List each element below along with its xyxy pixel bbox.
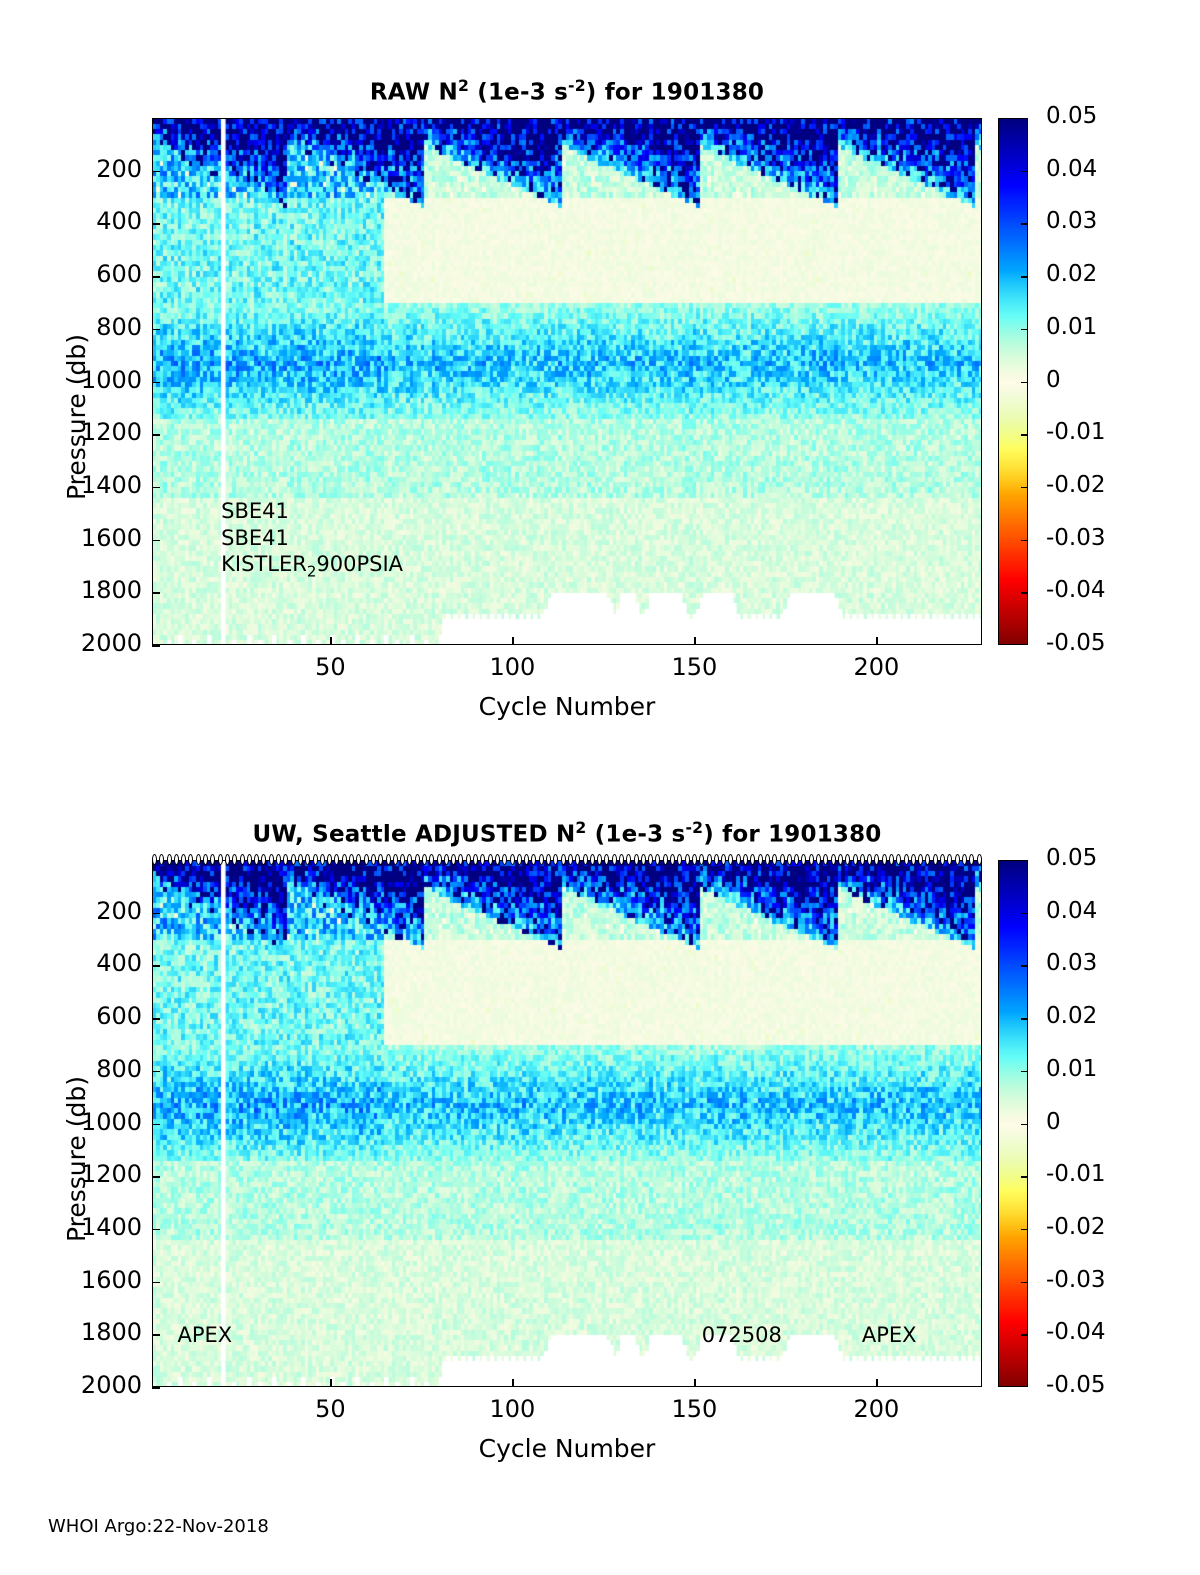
cycle-marker-icon bbox=[334, 854, 339, 865]
colorbar-tick-label: -0.04 bbox=[1046, 577, 1106, 603]
cycle-marker-icon bbox=[758, 854, 763, 865]
colorbar-tick-mark bbox=[1021, 276, 1028, 278]
colorbar-tick-mark bbox=[1021, 487, 1028, 489]
cycle-marker-icon bbox=[568, 854, 573, 865]
ytick-mark bbox=[152, 329, 160, 331]
ytick-mark bbox=[152, 1176, 160, 1178]
colorbar-tick-label: 0.04 bbox=[1046, 898, 1097, 924]
cycle-marker-icon bbox=[261, 854, 266, 865]
ytick-mark bbox=[152, 1229, 160, 1231]
xtick-label: 150 bbox=[649, 1395, 739, 1423]
cycle-marker-icon bbox=[670, 854, 675, 865]
ytick-label: 1800 bbox=[24, 1318, 142, 1346]
cycle-marker-icon bbox=[955, 854, 960, 865]
annotation-text: SBE41 bbox=[221, 499, 289, 523]
cycle-marker-icon bbox=[692, 854, 697, 865]
ytick-mark bbox=[152, 1334, 160, 1336]
cycle-marker-icon bbox=[685, 854, 690, 865]
ytick-label: 1800 bbox=[24, 576, 142, 604]
cycle-marker-icon bbox=[721, 854, 726, 865]
colorbar-tick-label: -0.05 bbox=[1046, 1372, 1106, 1398]
colorbar-tick-mark bbox=[1021, 1018, 1028, 1020]
panel-adjusted-plot-area[interactable] bbox=[152, 860, 982, 1387]
ytick-mark bbox=[152, 645, 160, 647]
cycle-marker-icon bbox=[240, 854, 245, 865]
cycle-marker-icon bbox=[801, 854, 806, 865]
plot-annotation: SBE41 bbox=[221, 526, 289, 550]
cycle-marker-icon bbox=[597, 854, 602, 865]
cycle-marker-icon bbox=[546, 854, 551, 865]
cycle-marker-icon bbox=[925, 854, 930, 865]
cycle-marker-icon bbox=[539, 854, 544, 865]
cycle-marker-icon bbox=[356, 854, 361, 865]
xtick-mark bbox=[694, 637, 696, 645]
cycle-marker-icon bbox=[429, 854, 434, 865]
ytick-label: 2000 bbox=[24, 1371, 142, 1399]
cycle-marker-icon bbox=[342, 854, 347, 865]
cycle-marker-icon bbox=[524, 854, 529, 865]
cycle-marker-icon bbox=[407, 854, 412, 865]
cycle-marker-icon bbox=[181, 854, 186, 865]
cycle-marker-icon bbox=[473, 854, 478, 865]
ytick-label: 600 bbox=[24, 260, 142, 288]
cycle-marker-icon bbox=[699, 854, 704, 865]
colorbar-tick-mark bbox=[1021, 592, 1028, 594]
ytick-mark bbox=[152, 171, 160, 173]
cycle-marker-icon bbox=[553, 854, 558, 865]
cycle-marker-icon bbox=[969, 854, 974, 865]
cycle-marker-icon bbox=[809, 854, 814, 865]
colorbar-tick-label: 0 bbox=[1046, 367, 1061, 393]
ytick-label: 400 bbox=[24, 207, 142, 235]
cycle-marker-icon bbox=[940, 854, 945, 865]
colorbar-tick-mark bbox=[1021, 1334, 1028, 1336]
xtick-label: 150 bbox=[649, 653, 739, 681]
cycle-marker-icon bbox=[772, 854, 777, 865]
colorbar-tick-label: -0.01 bbox=[1046, 1161, 1106, 1187]
panel-raw-title-sup1: 2 bbox=[458, 76, 469, 95]
panel-raw-title-sup2: -2 bbox=[568, 76, 586, 95]
figure-footer: WHOI Argo:22-Nov-2018 bbox=[48, 1516, 269, 1537]
cycle-marker-icon bbox=[918, 854, 923, 865]
cycle-marker-icon bbox=[707, 854, 712, 865]
cycle-marker-icon bbox=[860, 854, 865, 865]
ytick-label: 200 bbox=[24, 155, 142, 183]
xtick-label: 100 bbox=[467, 1395, 557, 1423]
colorbar-tick-mark bbox=[1021, 1282, 1028, 1284]
panel-adjusted-title-sup1: 2 bbox=[575, 818, 586, 837]
cycle-marker-icon bbox=[874, 854, 879, 865]
cycle-marker-icon bbox=[422, 854, 427, 865]
adjusted-cycle-marker-row[interactable] bbox=[152, 852, 982, 866]
cycle-marker-icon bbox=[561, 854, 566, 865]
cycle-marker-icon bbox=[612, 854, 617, 865]
cycle-marker-icon bbox=[386, 854, 391, 865]
cycle-marker-icon bbox=[736, 854, 741, 865]
ytick-label: 1000 bbox=[24, 1108, 142, 1136]
xtick-mark bbox=[876, 1379, 878, 1387]
cycle-marker-icon bbox=[889, 854, 894, 865]
cycle-marker-icon bbox=[276, 854, 281, 865]
cycle-marker-icon bbox=[765, 854, 770, 865]
cycle-marker-icon bbox=[743, 854, 748, 865]
cycle-marker-icon bbox=[750, 854, 755, 865]
panel-adjusted-title-mid: (1e-3 s bbox=[586, 822, 685, 848]
ytick-label: 400 bbox=[24, 949, 142, 977]
panel-raw-title-prefix: RAW N bbox=[370, 80, 458, 106]
cycle-marker-icon bbox=[816, 854, 821, 865]
cycle-marker-icon bbox=[210, 854, 215, 865]
cycle-marker-icon bbox=[349, 854, 354, 865]
cycle-marker-icon bbox=[641, 854, 646, 865]
panel-adjusted-title-suffix: ) for 1901380 bbox=[703, 822, 881, 848]
cycle-marker-icon bbox=[575, 854, 580, 865]
annotation-text: SBE41 bbox=[221, 526, 289, 550]
ytick-label: 800 bbox=[24, 313, 142, 341]
xtick-mark bbox=[512, 637, 514, 645]
ytick-mark bbox=[152, 223, 160, 225]
cycle-marker-icon bbox=[626, 854, 631, 865]
cycle-marker-icon bbox=[590, 854, 595, 865]
xtick-label: 200 bbox=[831, 653, 921, 681]
cycle-marker-icon bbox=[269, 854, 274, 865]
cycle-marker-icon bbox=[794, 854, 799, 865]
cycle-marker-icon bbox=[247, 854, 252, 865]
cycle-marker-icon bbox=[466, 854, 471, 865]
colorbar-tick-label: 0.01 bbox=[1046, 314, 1097, 340]
cycle-marker-icon bbox=[188, 854, 193, 865]
cycle-marker-icon bbox=[619, 854, 624, 865]
ytick-mark bbox=[152, 913, 160, 915]
xtick-mark bbox=[512, 1379, 514, 1387]
ytick-mark bbox=[152, 276, 160, 278]
cycle-marker-icon bbox=[415, 854, 420, 865]
ytick-label: 1400 bbox=[24, 471, 142, 499]
xtick-label: 50 bbox=[285, 653, 375, 681]
colorbar-tick-label: 0.01 bbox=[1046, 1056, 1097, 1082]
plot-annotation: 072508 bbox=[702, 1323, 782, 1347]
cycle-marker-icon bbox=[853, 854, 858, 865]
cycle-marker-icon bbox=[451, 854, 456, 865]
cycle-marker-icon bbox=[517, 854, 522, 865]
cycle-marker-icon bbox=[531, 854, 536, 865]
cycle-marker-icon bbox=[947, 854, 952, 865]
cycle-marker-icon bbox=[393, 854, 398, 865]
cycle-marker-icon bbox=[714, 854, 719, 865]
ytick-mark bbox=[152, 487, 160, 489]
colorbar-tick-label: -0.01 bbox=[1046, 419, 1106, 445]
colorbar-tick-mark bbox=[1021, 1176, 1028, 1178]
cycle-marker-icon bbox=[458, 854, 463, 865]
cycle-marker-icon bbox=[298, 854, 303, 865]
xtick-mark bbox=[330, 637, 332, 645]
cycle-marker-icon bbox=[232, 854, 237, 865]
ytick-mark bbox=[152, 965, 160, 967]
cycle-marker-icon bbox=[196, 854, 201, 865]
cycle-marker-icon bbox=[327, 854, 332, 865]
cycle-marker-icon bbox=[174, 854, 179, 865]
cycle-marker-icon bbox=[867, 854, 872, 865]
ytick-label: 1600 bbox=[24, 1266, 142, 1294]
cycle-marker-icon bbox=[364, 854, 369, 865]
colorbar-tick-label: -0.03 bbox=[1046, 1267, 1106, 1293]
cycle-marker-icon bbox=[254, 854, 259, 865]
colorbar-tick-label: 0 bbox=[1046, 1109, 1061, 1135]
cycle-marker-icon bbox=[604, 854, 609, 865]
annotation-text-after: 900PSIA bbox=[316, 552, 403, 576]
cycle-marker-icon bbox=[152, 854, 157, 865]
ytick-mark bbox=[152, 1018, 160, 1020]
xtick-mark bbox=[330, 1379, 332, 1387]
colorbar-tick-label: 0.03 bbox=[1046, 208, 1097, 234]
cycle-marker-icon bbox=[831, 854, 836, 865]
colorbar-tick-mark bbox=[1021, 329, 1028, 331]
cycle-marker-icon bbox=[677, 854, 682, 865]
cycle-marker-icon bbox=[648, 854, 653, 865]
cycle-marker-icon bbox=[320, 854, 325, 865]
xtick-label: 50 bbox=[285, 1395, 375, 1423]
cycle-marker-icon bbox=[911, 854, 916, 865]
ytick-label: 600 bbox=[24, 1002, 142, 1030]
colorbar-tick-label: 0.02 bbox=[1046, 261, 1097, 287]
colorbar-tick-mark bbox=[1021, 1124, 1028, 1126]
panel-adjusted-title-prefix: UW, Seattle ADJUSTED N bbox=[252, 822, 575, 848]
cycle-marker-icon bbox=[823, 854, 828, 865]
colorbar-tick-label: 0.04 bbox=[1046, 156, 1097, 182]
cycle-marker-icon bbox=[444, 854, 449, 865]
xtick-label: 200 bbox=[831, 1395, 921, 1423]
annotation-subscript: 2 bbox=[307, 562, 317, 580]
cycle-marker-icon bbox=[510, 854, 515, 865]
colorbar-tick-mark bbox=[1021, 434, 1028, 436]
ytick-mark bbox=[152, 592, 160, 594]
cycle-marker-icon bbox=[488, 854, 493, 865]
xtick-label: 100 bbox=[467, 653, 557, 681]
colorbar-tick-label: -0.02 bbox=[1046, 472, 1106, 498]
cycle-marker-icon bbox=[203, 854, 208, 865]
cycle-marker-icon bbox=[283, 854, 288, 865]
cycle-marker-icon bbox=[655, 854, 660, 865]
cycle-marker-icon bbox=[728, 854, 733, 865]
cycle-marker-icon bbox=[225, 854, 230, 865]
cycle-marker-icon bbox=[904, 854, 909, 865]
ytick-label: 2000 bbox=[24, 629, 142, 657]
colorbar-tick-mark bbox=[1021, 965, 1028, 967]
cycle-marker-icon bbox=[371, 854, 376, 865]
annotation-text: 072508 bbox=[702, 1323, 782, 1347]
cycle-marker-icon bbox=[291, 854, 296, 865]
cycle-marker-icon bbox=[933, 854, 938, 865]
panel-raw-title-mid: (1e-3 s bbox=[469, 80, 568, 106]
ytick-label: 1200 bbox=[24, 418, 142, 446]
colorbar-tick-label: -0.04 bbox=[1046, 1319, 1106, 1345]
ytick-mark bbox=[152, 1071, 160, 1073]
cycle-marker-icon bbox=[218, 854, 223, 865]
plot-annotation: KISTLER2900PSIA bbox=[221, 552, 403, 580]
ytick-label: 800 bbox=[24, 1055, 142, 1083]
panel-raw-title: RAW N2 (1e-3 s-2) for 1901380 bbox=[152, 76, 982, 106]
ytick-label: 200 bbox=[24, 897, 142, 925]
ytick-mark bbox=[152, 1282, 160, 1284]
colorbar-tick-label: 0.02 bbox=[1046, 1003, 1097, 1029]
ytick-label: 1200 bbox=[24, 1160, 142, 1188]
colorbar-tick-mark bbox=[1021, 223, 1028, 225]
cycle-marker-icon bbox=[838, 854, 843, 865]
cycle-marker-icon bbox=[159, 854, 164, 865]
colorbar-tick-label: 0.05 bbox=[1046, 103, 1097, 129]
cycle-marker-icon bbox=[437, 854, 442, 865]
panel-raw-xlabel: Cycle Number bbox=[152, 692, 982, 721]
cycle-marker-icon bbox=[313, 854, 318, 865]
cycle-marker-icon bbox=[977, 854, 982, 865]
cycle-marker-icon bbox=[583, 854, 588, 865]
ytick-label: 1000 bbox=[24, 366, 142, 394]
colorbar-tick-mark bbox=[1021, 540, 1028, 542]
plot-annotation: SBE41 bbox=[221, 499, 289, 523]
ytick-mark bbox=[152, 1124, 160, 1126]
cycle-marker-icon bbox=[896, 854, 901, 865]
ytick-mark bbox=[152, 434, 160, 436]
cycle-marker-icon bbox=[167, 854, 172, 865]
ytick-mark bbox=[152, 1387, 160, 1389]
colorbar-tick-mark bbox=[1021, 382, 1028, 384]
colorbar-tick-mark bbox=[1021, 1229, 1028, 1231]
colorbar-tick-label: 0.05 bbox=[1046, 845, 1097, 871]
ytick-mark bbox=[152, 540, 160, 542]
cycle-marker-icon bbox=[845, 854, 850, 865]
cycle-marker-icon bbox=[663, 854, 668, 865]
cycle-marker-icon bbox=[305, 854, 310, 865]
ytick-mark bbox=[152, 382, 160, 384]
colorbar-tick-label: -0.02 bbox=[1046, 1214, 1106, 1240]
plot-annotation: APEX bbox=[862, 1323, 917, 1347]
cycle-marker-icon bbox=[634, 854, 639, 865]
colorbar-tick-label: 0.03 bbox=[1046, 950, 1097, 976]
cycle-marker-icon bbox=[787, 854, 792, 865]
cycle-marker-icon bbox=[378, 854, 383, 865]
colorbar-tick-label: -0.05 bbox=[1046, 630, 1106, 656]
panel-raw-title-suffix: ) for 1901380 bbox=[586, 80, 764, 106]
cycle-marker-icon bbox=[495, 854, 500, 865]
cycle-marker-icon bbox=[480, 854, 485, 865]
colorbar-tick-mark bbox=[1021, 913, 1028, 915]
colorbar-tick-label: -0.03 bbox=[1046, 525, 1106, 551]
panel-adjusted-xlabel: Cycle Number bbox=[152, 1434, 982, 1463]
cycle-marker-icon bbox=[962, 854, 967, 865]
ytick-label: 1400 bbox=[24, 1213, 142, 1241]
cycle-marker-icon bbox=[400, 854, 405, 865]
colorbar-tick-mark bbox=[1021, 171, 1028, 173]
plot-annotation: APEX bbox=[177, 1323, 232, 1347]
xtick-mark bbox=[694, 1379, 696, 1387]
colorbar-tick-mark bbox=[1021, 1071, 1028, 1073]
panel-adjusted-title-sup2: -2 bbox=[685, 818, 703, 837]
annotation-text: APEX bbox=[177, 1323, 232, 1347]
annotation-text: KISTLER bbox=[221, 552, 307, 576]
xtick-mark bbox=[876, 637, 878, 645]
panel-adjusted-title: UW, Seattle ADJUSTED N2 (1e-3 s-2) for 1… bbox=[152, 818, 982, 848]
annotation-text: APEX bbox=[862, 1323, 917, 1347]
cycle-marker-icon bbox=[882, 854, 887, 865]
ytick-label: 1600 bbox=[24, 524, 142, 552]
cycle-marker-icon bbox=[780, 854, 785, 865]
cycle-marker-icon bbox=[502, 854, 507, 865]
